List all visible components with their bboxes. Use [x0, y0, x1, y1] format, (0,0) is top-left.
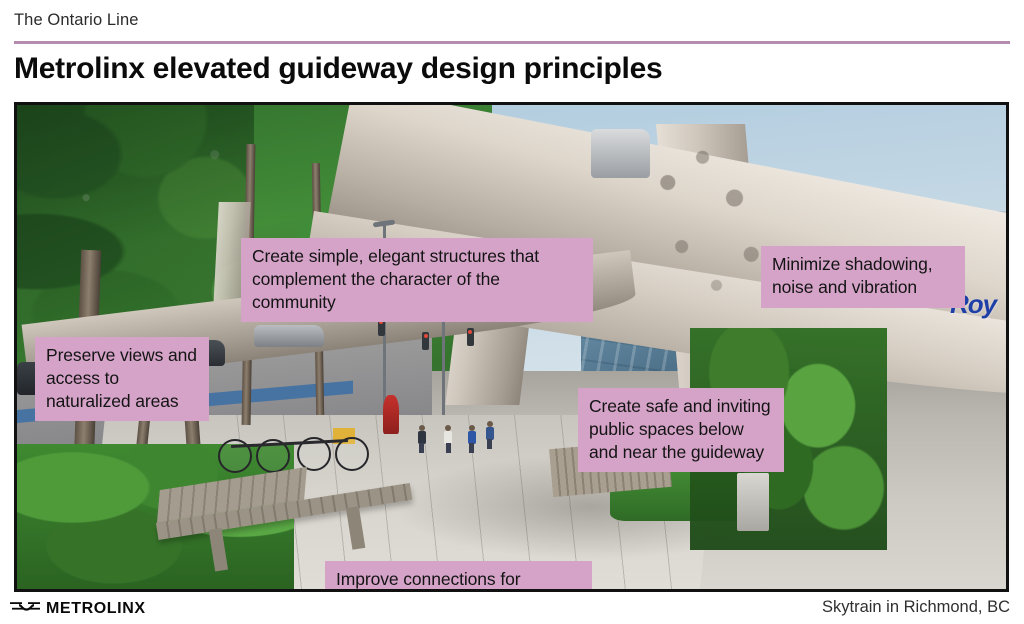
traffic-light [467, 328, 474, 346]
eyebrow-label: The Ontario Line [14, 11, 139, 30]
callout-create-safe-inviting: Create safe and inviting public spaces b… [578, 388, 784, 472]
footer: METROLINX Skytrain in Richmond, BC [0, 592, 1024, 624]
car [254, 325, 323, 347]
car [591, 129, 650, 177]
slide: The Ontario Line Metrolinx elevated guid… [0, 0, 1024, 624]
traffic-light [422, 332, 429, 350]
litter-bin [737, 473, 769, 531]
metrolinx-wave-icon [10, 599, 40, 618]
page-title: Metrolinx elevated guideway design princ… [14, 52, 662, 86]
metrolinx-logo-text: METROLINX [46, 600, 146, 618]
header-divider [14, 41, 1010, 44]
pedestrian [468, 425, 476, 453]
dappled-shadow [640, 134, 778, 328]
pedestrian [444, 425, 452, 453]
metrolinx-logo: METROLINX [10, 599, 146, 618]
callout-improve-connections: Improve connections for pedestrians, cyc… [325, 561, 592, 589]
callout-preserve-views: Preserve views and access to naturalized… [35, 337, 209, 421]
photo-scene: Roy [17, 105, 1006, 589]
photo-caption: Skytrain in Richmond, BC [822, 598, 1010, 617]
callout-minimize-shadowing: Minimize shadowing, noise and vibration [761, 246, 965, 308]
fire-hydrant [383, 395, 399, 434]
photo-frame: Roy [14, 102, 1009, 592]
pedestrian [418, 425, 426, 453]
pedestrian [486, 421, 494, 449]
callout-create-simple-elegant: Create simple, elegant structures that c… [241, 238, 593, 322]
